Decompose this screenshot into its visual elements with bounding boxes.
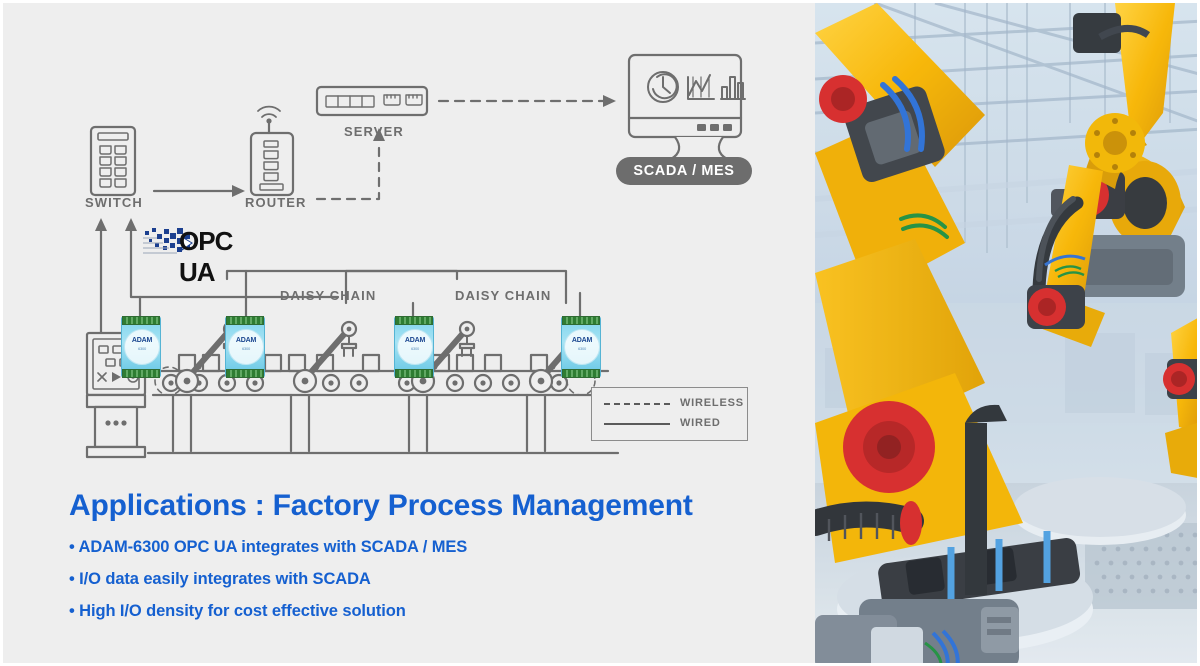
adam-terminal-bottom bbox=[395, 369, 433, 378]
legend-wired-label: WIRED bbox=[680, 417, 721, 429]
adam-badge-label: ADAM bbox=[565, 337, 599, 344]
adam-terminal-top bbox=[122, 316, 160, 325]
adam-badge-label: ADAM bbox=[398, 337, 432, 344]
adam-terminal-top bbox=[226, 316, 264, 325]
scada-mes-badge: SCADA / MES bbox=[616, 157, 752, 185]
adam-badge-sub: 6300 bbox=[125, 346, 159, 351]
adam-terminal-top bbox=[562, 316, 600, 325]
adam-badge: ADAM 6300 bbox=[228, 329, 264, 365]
server-icon bbox=[317, 87, 427, 115]
legend-wireless-label: WIRELESS bbox=[680, 397, 744, 409]
factory-robot-photo bbox=[815, 3, 1200, 666]
adam-module[interactable]: ADAM 6300 bbox=[394, 316, 434, 378]
opcua-logo: OPC UA bbox=[143, 225, 273, 259]
switch-label: SWITCH bbox=[85, 195, 143, 210]
adam-badge: ADAM 6300 bbox=[564, 329, 600, 365]
scada-monitor-icon bbox=[629, 55, 745, 159]
router-server-dashed bbox=[317, 143, 379, 199]
adam-badge-label: ADAM bbox=[229, 337, 263, 344]
robot-arm-2 bbox=[294, 322, 356, 392]
adam-terminal-bottom bbox=[562, 369, 600, 378]
adam-badge-sub: 6300 bbox=[565, 346, 599, 351]
adam-module[interactable]: ADAM 6300 bbox=[561, 316, 601, 378]
conveyor-system bbox=[148, 322, 618, 453]
legend: WIRELESS WIRED bbox=[591, 387, 748, 441]
adam-terminal-top bbox=[395, 316, 433, 325]
adam-badge: ADAM 6300 bbox=[124, 329, 160, 365]
legend-row-wireless: WIRELESS bbox=[604, 396, 734, 412]
bullet-item: • ADAM-6300 OPC UA integrates with SCADA… bbox=[69, 538, 799, 557]
daisy-chain-right-label: DAISY CHAIN bbox=[455, 288, 551, 303]
monitor-arrowhead bbox=[603, 95, 616, 107]
slide-root: SWITCH ROUTER SERVER DAISY CHAIN DAISY C… bbox=[0, 0, 1200, 666]
page-title: Applications : Factory Process Managemen… bbox=[69, 489, 799, 524]
bullet-item: • I/O data easily integrates with SCADA bbox=[69, 570, 799, 589]
legend-solid-line-icon bbox=[604, 423, 670, 425]
diagram-panel: SWITCH ROUTER SERVER DAISY CHAIN DAISY C… bbox=[3, 3, 815, 666]
adam-badge-sub: 6300 bbox=[398, 346, 432, 351]
adam-badge-label: ADAM bbox=[125, 337, 159, 344]
server-label: SERVER bbox=[344, 124, 404, 139]
switch-router-arrow bbox=[154, 185, 245, 197]
router-icon bbox=[251, 107, 293, 195]
bullet-item: • High I/O density for cost effective so… bbox=[69, 602, 799, 621]
adam-module[interactable]: ADAM 6300 bbox=[121, 316, 161, 378]
legend-row-wired: WIRED bbox=[604, 416, 734, 432]
conveyor-legs bbox=[148, 395, 618, 453]
conveyor-rollers bbox=[163, 375, 567, 391]
robot-arms-illustration bbox=[815, 3, 1200, 666]
adam-terminal-bottom bbox=[226, 369, 264, 378]
adam-badge-sub: 6300 bbox=[229, 346, 263, 351]
adam-terminal-bottom bbox=[122, 369, 160, 378]
legend-dashed-line-icon bbox=[604, 403, 670, 405]
adam-badge: ADAM 6300 bbox=[397, 329, 433, 365]
switch-icon bbox=[91, 127, 135, 195]
router-label: ROUTER bbox=[245, 195, 307, 210]
adam-module[interactable]: ADAM 6300 bbox=[225, 316, 265, 378]
text-block: Applications : Factory Process Managemen… bbox=[69, 489, 799, 634]
scada-mes-label: SCADA / MES bbox=[633, 163, 734, 179]
opcua-wordmark: OPC UA bbox=[179, 226, 273, 288]
daisy-chain-left-label: DAISY CHAIN bbox=[280, 288, 376, 303]
